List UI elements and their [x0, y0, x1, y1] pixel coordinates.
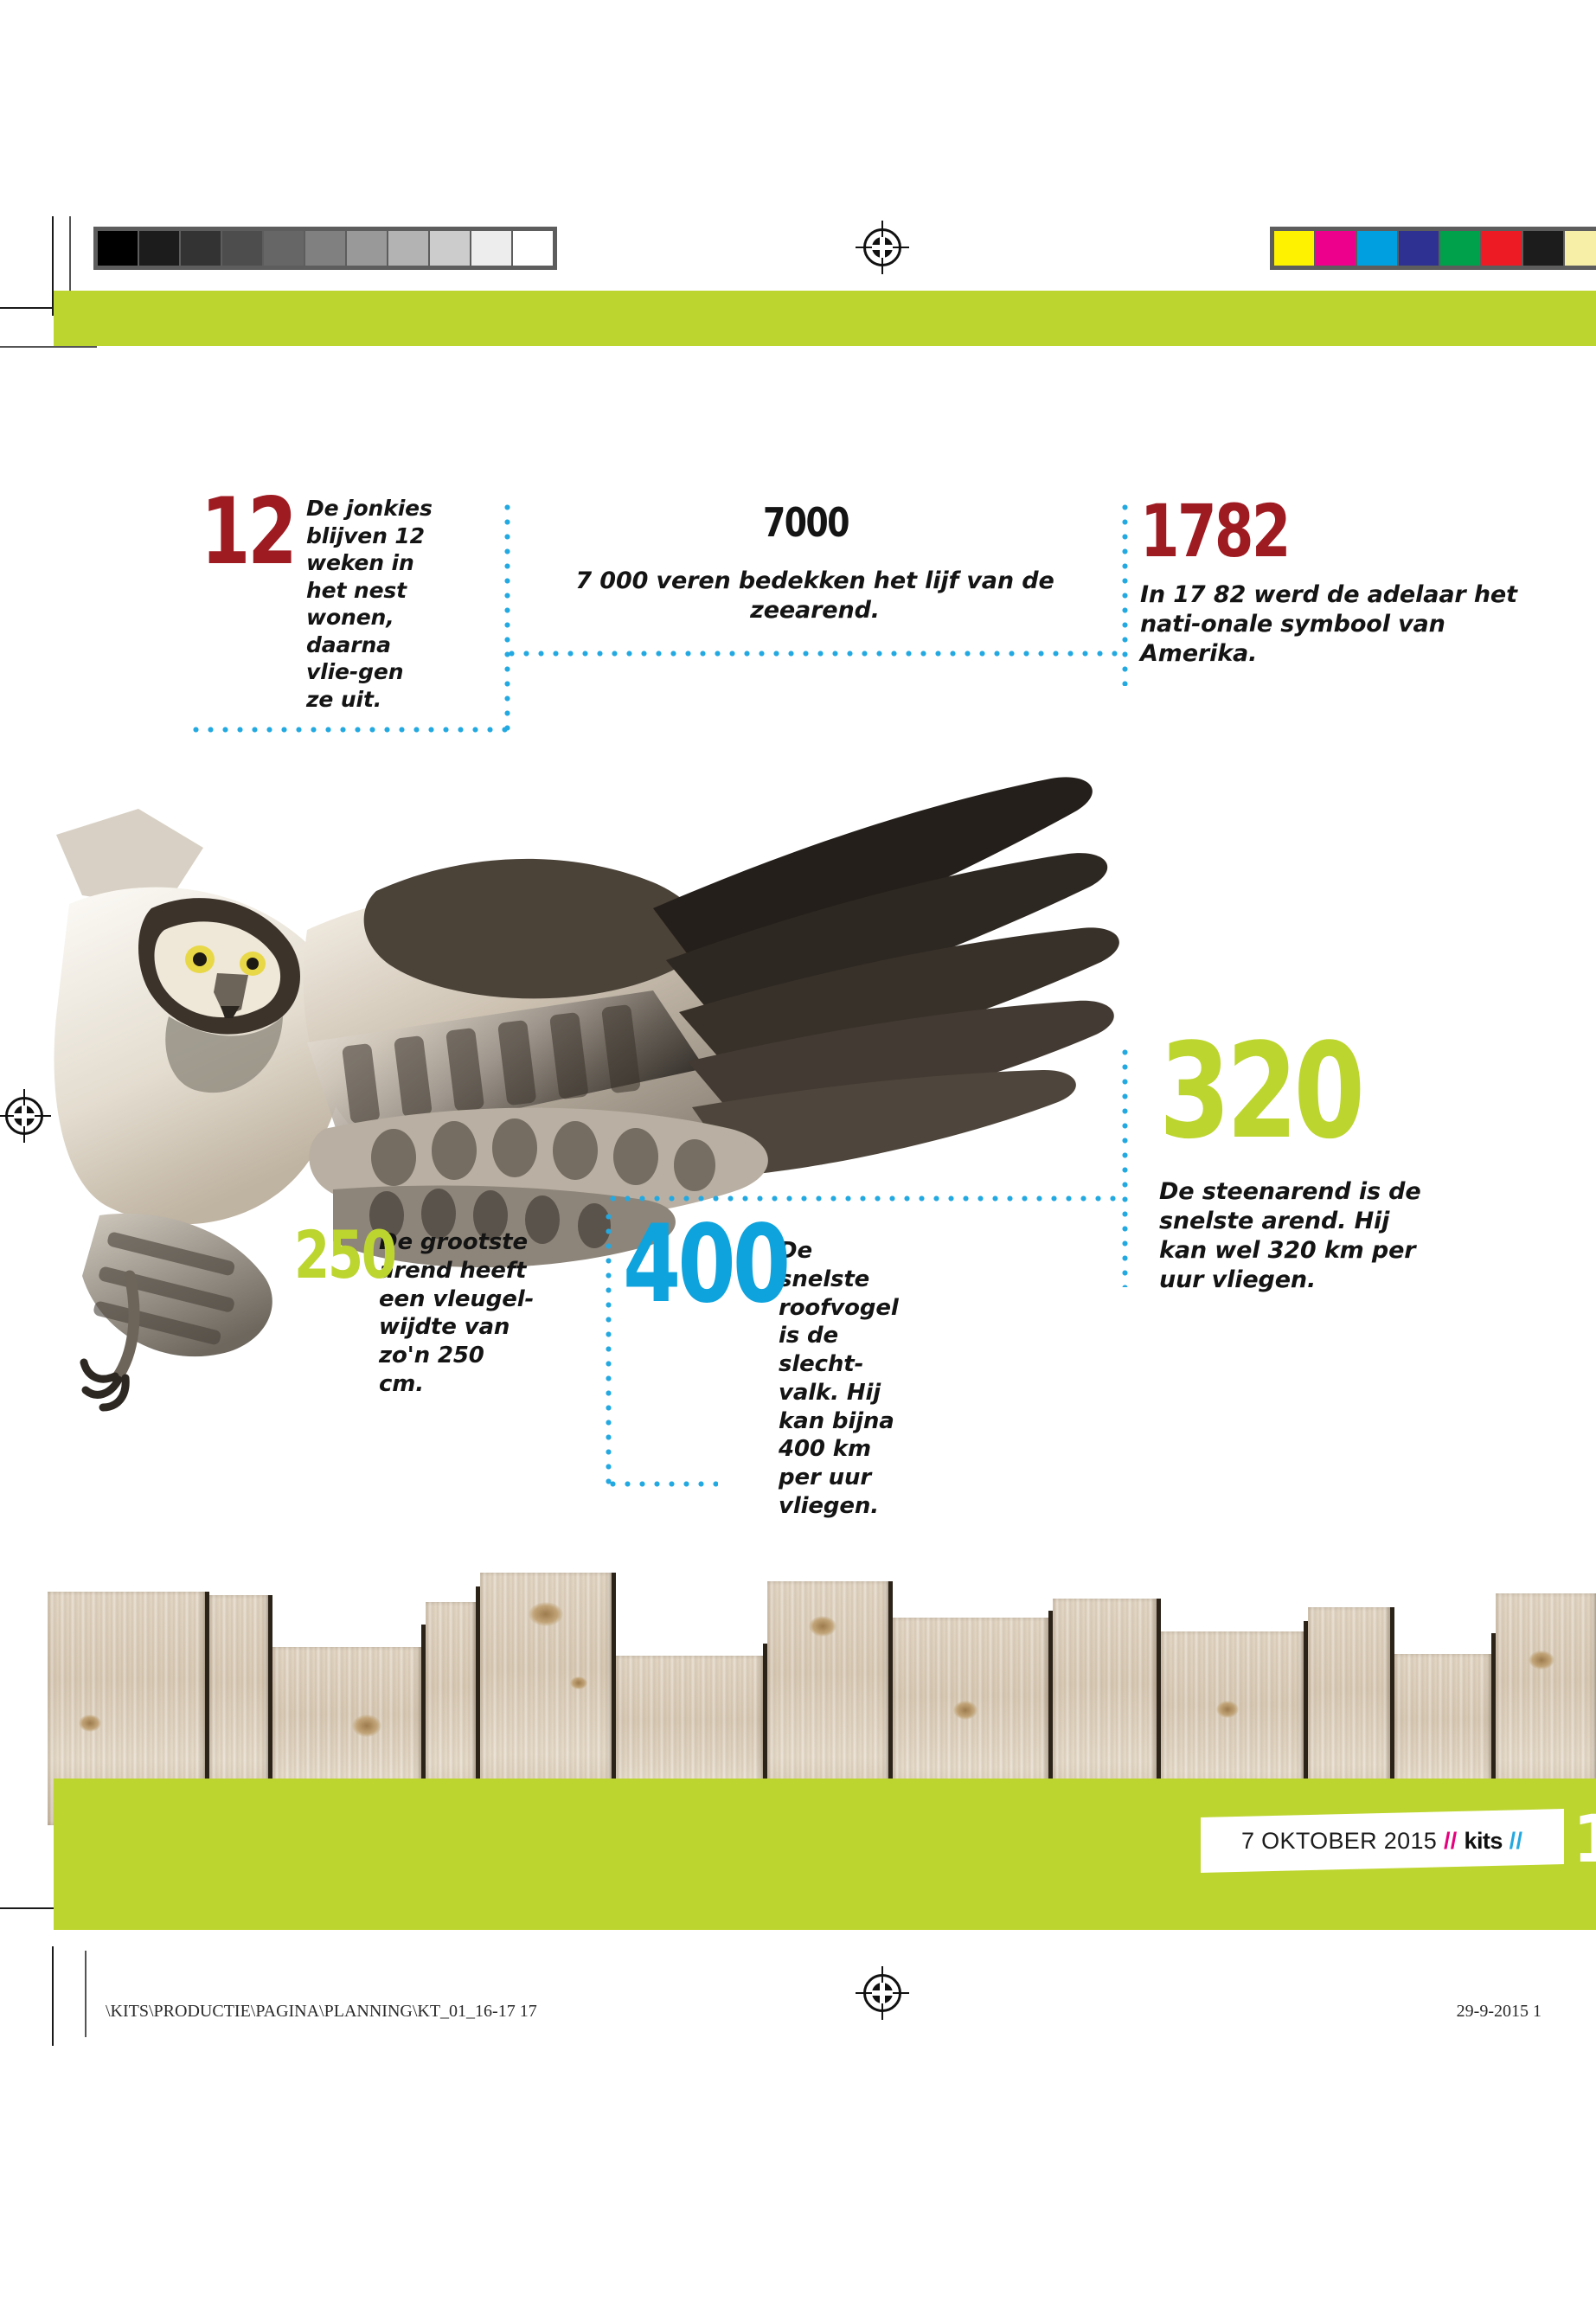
proof-timestamp: 29-9-2015 1 [1457, 2002, 1542, 2022]
grayscale-swatch [222, 231, 262, 266]
grayscale-swatch [305, 231, 345, 266]
crop-mark-bottom-left-vertical [52, 1946, 54, 2046]
grayscale-swatch [139, 231, 179, 266]
fact-number-1782: 1782 [1140, 502, 1477, 561]
crop-rule-top-left [0, 346, 97, 348]
fact-text-12: De jonkies blijven 12 weken in het nest … [306, 495, 436, 713]
fact-text-400: De snelste roofvogel is de slecht-valk. … [779, 1237, 908, 1521]
fact-number-400: 400 [623, 1221, 772, 1310]
grayscale-swatch [513, 231, 553, 266]
fact-number-250: 250 [294, 1228, 376, 1282]
grayscale-swatch [471, 231, 511, 266]
proof-file-path: \KITS\PRODUCTIE\PAGINA\PLANNING\KT_01_16… [106, 2002, 537, 2022]
divider-horizontal-fact7000 [504, 651, 1127, 657]
page-proof-sheet: 12 De jonkies blijven 12 weken in het ne… [0, 0, 1596, 2301]
grayscale-swatch [181, 231, 221, 266]
cmyk-swatch [1482, 231, 1522, 266]
date-badge-content: 7 OKTOBER 2015 // kits // [1241, 1828, 1522, 1855]
cmyk-swatch [1357, 231, 1397, 266]
fact-text-320: De steenarend is de snelste arend. Hij k… [1159, 1177, 1436, 1295]
fact-number-320: 320 [1159, 1038, 1470, 1146]
cmyk-swatch [1523, 231, 1563, 266]
fact-block-7000: 7000 7 000 veren bedekken het lijf van d… [525, 507, 1105, 625]
cmyk-swatch [1565, 231, 1596, 266]
cmyk-swatch [1399, 231, 1439, 266]
grayscale-calibration-strip [93, 227, 557, 270]
fact-text-250: De grootste arend heeft een vleugel-wijd… [379, 1228, 535, 1399]
cmyk-swatch [1316, 231, 1356, 266]
header-green-band [54, 291, 1596, 346]
registration-target-top [863, 228, 901, 266]
cmyk-swatch [1440, 231, 1480, 266]
cmyk-swatch [1274, 231, 1314, 266]
fact-block-12: 12 De jonkies blijven 12 weken in het ne… [201, 495, 495, 713]
grayscale-swatch [264, 231, 304, 266]
date-badge-date: 7 OKTOBER 2015 [1241, 1828, 1437, 1854]
divider-horizontal-fact12 [189, 727, 509, 733]
fact-number-7000: 7000 [763, 507, 849, 540]
divider-vertical-right [1122, 500, 1128, 686]
fact-text-1782: In 17 82 werd de adelaar het nati-onale … [1140, 580, 1538, 669]
page-number: 1 [1573, 1806, 1596, 1872]
grayscale-swatch [347, 231, 387, 266]
cmyk-calibration-strip [1270, 227, 1596, 270]
registration-target-bottom [863, 1974, 901, 2012]
registration-target-left [5, 1097, 43, 1135]
fact-block-400: 400 De snelste roofvogel is de slecht-va… [623, 1221, 952, 1521]
slash-separator-cyan-icon: // [1509, 1828, 1523, 1854]
fact-number-12: 12 [201, 495, 302, 570]
fact-block-320: 320 De steenarend is de snelste arend. H… [1159, 1038, 1557, 1295]
fact-block-250: 250 De grootste arend heeft een vleugel-… [294, 1228, 597, 1399]
fact-text-7000: 7 000 veren bedekken het lijf van de zee… [525, 567, 1105, 625]
divider-vertical-fact400 [606, 1209, 612, 1486]
grayscale-swatch [388, 231, 428, 266]
date-badge: 7 OKTOBER 2015 // kits // [1201, 1809, 1564, 1873]
brand-name-kits: kits [1465, 1828, 1503, 1854]
divider-vertical-left [504, 500, 510, 738]
divider-vertical-fact320 [1122, 1045, 1128, 1287]
crop-rule-bottom-left-inner [85, 1951, 87, 2037]
divider-horizontal-fact320 [606, 1195, 1125, 1202]
fact-block-1782: 1782 In 17 82 werd de adelaar het nati-o… [1140, 502, 1573, 669]
grayscale-swatch [430, 231, 470, 266]
slash-separator-magenta-icon: // [1444, 1828, 1458, 1854]
grayscale-swatch [98, 231, 138, 266]
